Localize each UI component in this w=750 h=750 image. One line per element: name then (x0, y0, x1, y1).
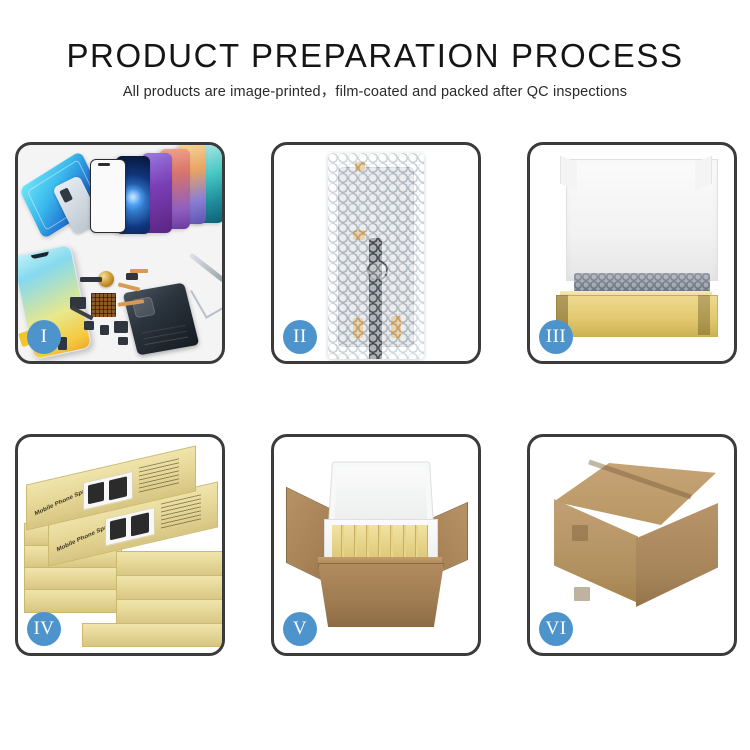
process-step-panel-5: V (271, 434, 481, 656)
packed-box (369, 525, 379, 559)
wrapped-part (338, 167, 414, 347)
bubble-wrap-bag (328, 153, 424, 359)
step-badge-3: III (539, 320, 573, 354)
phone-back-housing (123, 283, 200, 356)
small-part-screw-plate (118, 337, 128, 345)
page-title: PRODUCT PREPARATION PROCESS (0, 36, 750, 76)
lid-flap-left (560, 156, 577, 191)
process-step-grid: I II (15, 142, 737, 656)
carton-front-face (318, 563, 444, 627)
flex-cable-coil (369, 238, 382, 359)
retail-box-stack: Mobile Phone Spare Parts Mobile Phone Sp… (24, 459, 222, 639)
foam-lid-open (328, 462, 434, 527)
packed-box (357, 525, 367, 559)
retail-box-front-3 (116, 599, 222, 625)
carton-tab-upper (572, 525, 588, 541)
packed-box (344, 525, 354, 559)
retail-box-edge-4 (24, 589, 122, 613)
small-part-bracket (84, 321, 94, 330)
packed-box (418, 525, 428, 559)
flex-cable-1 (130, 269, 148, 273)
kraft-box-right-end (698, 295, 710, 335)
tape-piece-3 (353, 318, 363, 338)
retail-box-front-4 (82, 623, 222, 647)
header: PRODUCT PREPARATION PROCESS All products… (0, 36, 750, 101)
window-phone-front-2 (110, 518, 126, 541)
step-badge-6: VI (539, 612, 573, 646)
tape-piece-4 (391, 316, 401, 338)
step-badge-4: IV (27, 612, 61, 646)
small-part-clip (100, 325, 109, 335)
process-step-panel-4: Mobile Phone Spare Parts Mobile Phone Sp… (15, 434, 225, 656)
process-step-panel-6: VI (527, 434, 737, 656)
kraft-box-front (556, 295, 718, 337)
retail-box-front-2 (116, 575, 222, 601)
step-badge-5: V (283, 612, 317, 646)
packed-retail-boxes (332, 525, 428, 559)
tempered-glass-protector (90, 159, 126, 233)
packed-box (332, 525, 342, 559)
retail-box-spec-lines-2 (161, 494, 201, 529)
step-badge-2: II (283, 320, 317, 354)
small-part-bar (80, 277, 102, 282)
step-badge-1: I (27, 320, 61, 354)
process-step-panel-2: II (271, 142, 481, 364)
retail-box-edge-3 (24, 567, 122, 591)
packed-box (381, 525, 391, 559)
page-subtitle: All products are image-printed，film-coat… (0, 83, 750, 101)
small-part-chip (126, 273, 138, 280)
product-preparation-infographic: PRODUCT PREPARATION PROCESS All products… (0, 0, 750, 750)
packed-box (406, 525, 416, 559)
tape-piece-1 (355, 162, 365, 171)
window-phone-front-1 (88, 482, 104, 505)
process-step-panel-3: III (527, 142, 737, 364)
tape-piece-2 (353, 230, 365, 240)
retail-box-window-1 (83, 471, 133, 511)
window-phone-back-1 (109, 476, 127, 500)
chip-grid-part (91, 293, 116, 317)
retail-box-spec-lines-1 (139, 458, 179, 493)
retail-box-front-1 (116, 551, 222, 577)
tweezer-tool (190, 275, 222, 319)
flex-cable-2 (118, 282, 140, 291)
packed-box (393, 525, 403, 559)
retail-box-window-2 (105, 507, 155, 547)
process-step-panel-1: I (15, 142, 225, 364)
carton-tab-lower (574, 587, 590, 601)
small-part-camera (114, 321, 128, 333)
window-phone-back-2 (131, 512, 149, 536)
